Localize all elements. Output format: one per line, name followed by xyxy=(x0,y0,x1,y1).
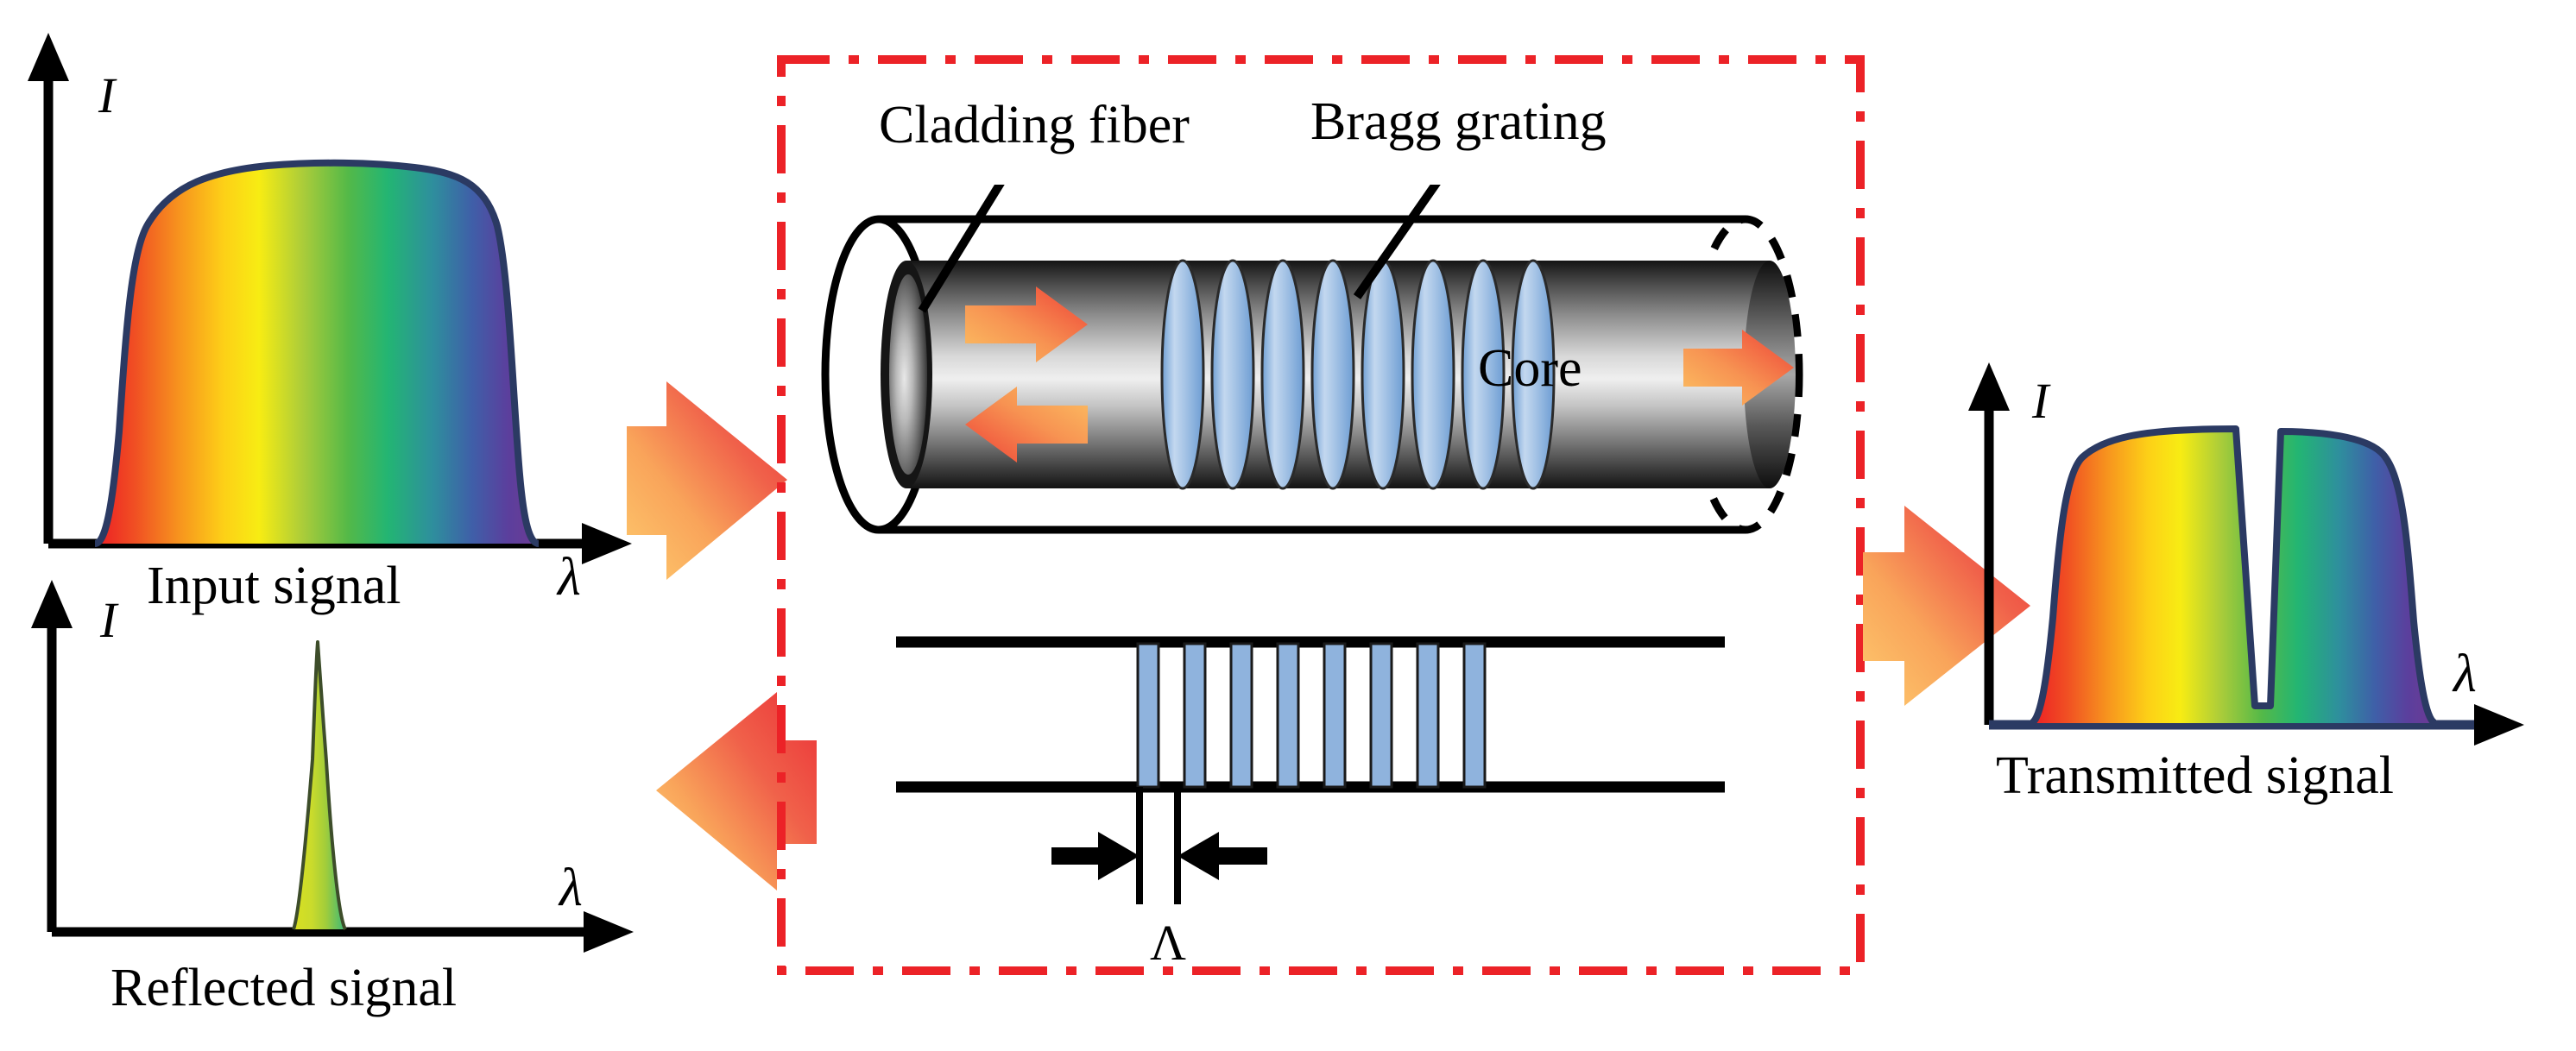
bragg-grating-label: Bragg grating xyxy=(1310,95,1607,148)
period-dimension-arrows xyxy=(1051,832,1267,880)
cladding-fiber-label: Cladding fiber xyxy=(879,98,1190,152)
input-signal-plot: I λ Input signal xyxy=(9,26,682,578)
reflected-signal-plot: I λ Reflected signal xyxy=(9,587,682,1051)
reflected-signal-caption: Reflected signal xyxy=(110,961,457,1015)
input-y-axis-label: I xyxy=(98,71,115,121)
device-region: Cladding fiber Bragg grating Core xyxy=(777,55,1865,975)
grating-period-bars xyxy=(1138,644,1485,787)
arrow-input-to-device xyxy=(627,373,791,588)
transmitted-signal-plot: I λ Transmitted signal xyxy=(1977,362,2576,854)
transmitted-spectrum-area xyxy=(2030,429,2436,723)
core-label: Core xyxy=(1478,342,1582,395)
grating-period-label: Λ xyxy=(1150,918,1186,968)
reflected-y-axis-label: I xyxy=(100,595,117,645)
input-spectrum-area xyxy=(95,163,539,544)
transmitted-signal-caption: Transmitted signal xyxy=(1996,749,2394,802)
transmitted-y-axis-label: I xyxy=(2032,376,2049,426)
transmitted-x-axis-label: λ xyxy=(2453,647,2477,701)
reflected-y-axis xyxy=(31,580,73,932)
figure-canvas: I λ Input signal xyxy=(0,0,2576,1051)
reflected-x-axis-label: λ xyxy=(559,861,583,915)
grating-period-schematic xyxy=(879,625,1742,970)
input-y-axis xyxy=(28,33,69,544)
optical-fiber-illustration xyxy=(777,185,1865,582)
